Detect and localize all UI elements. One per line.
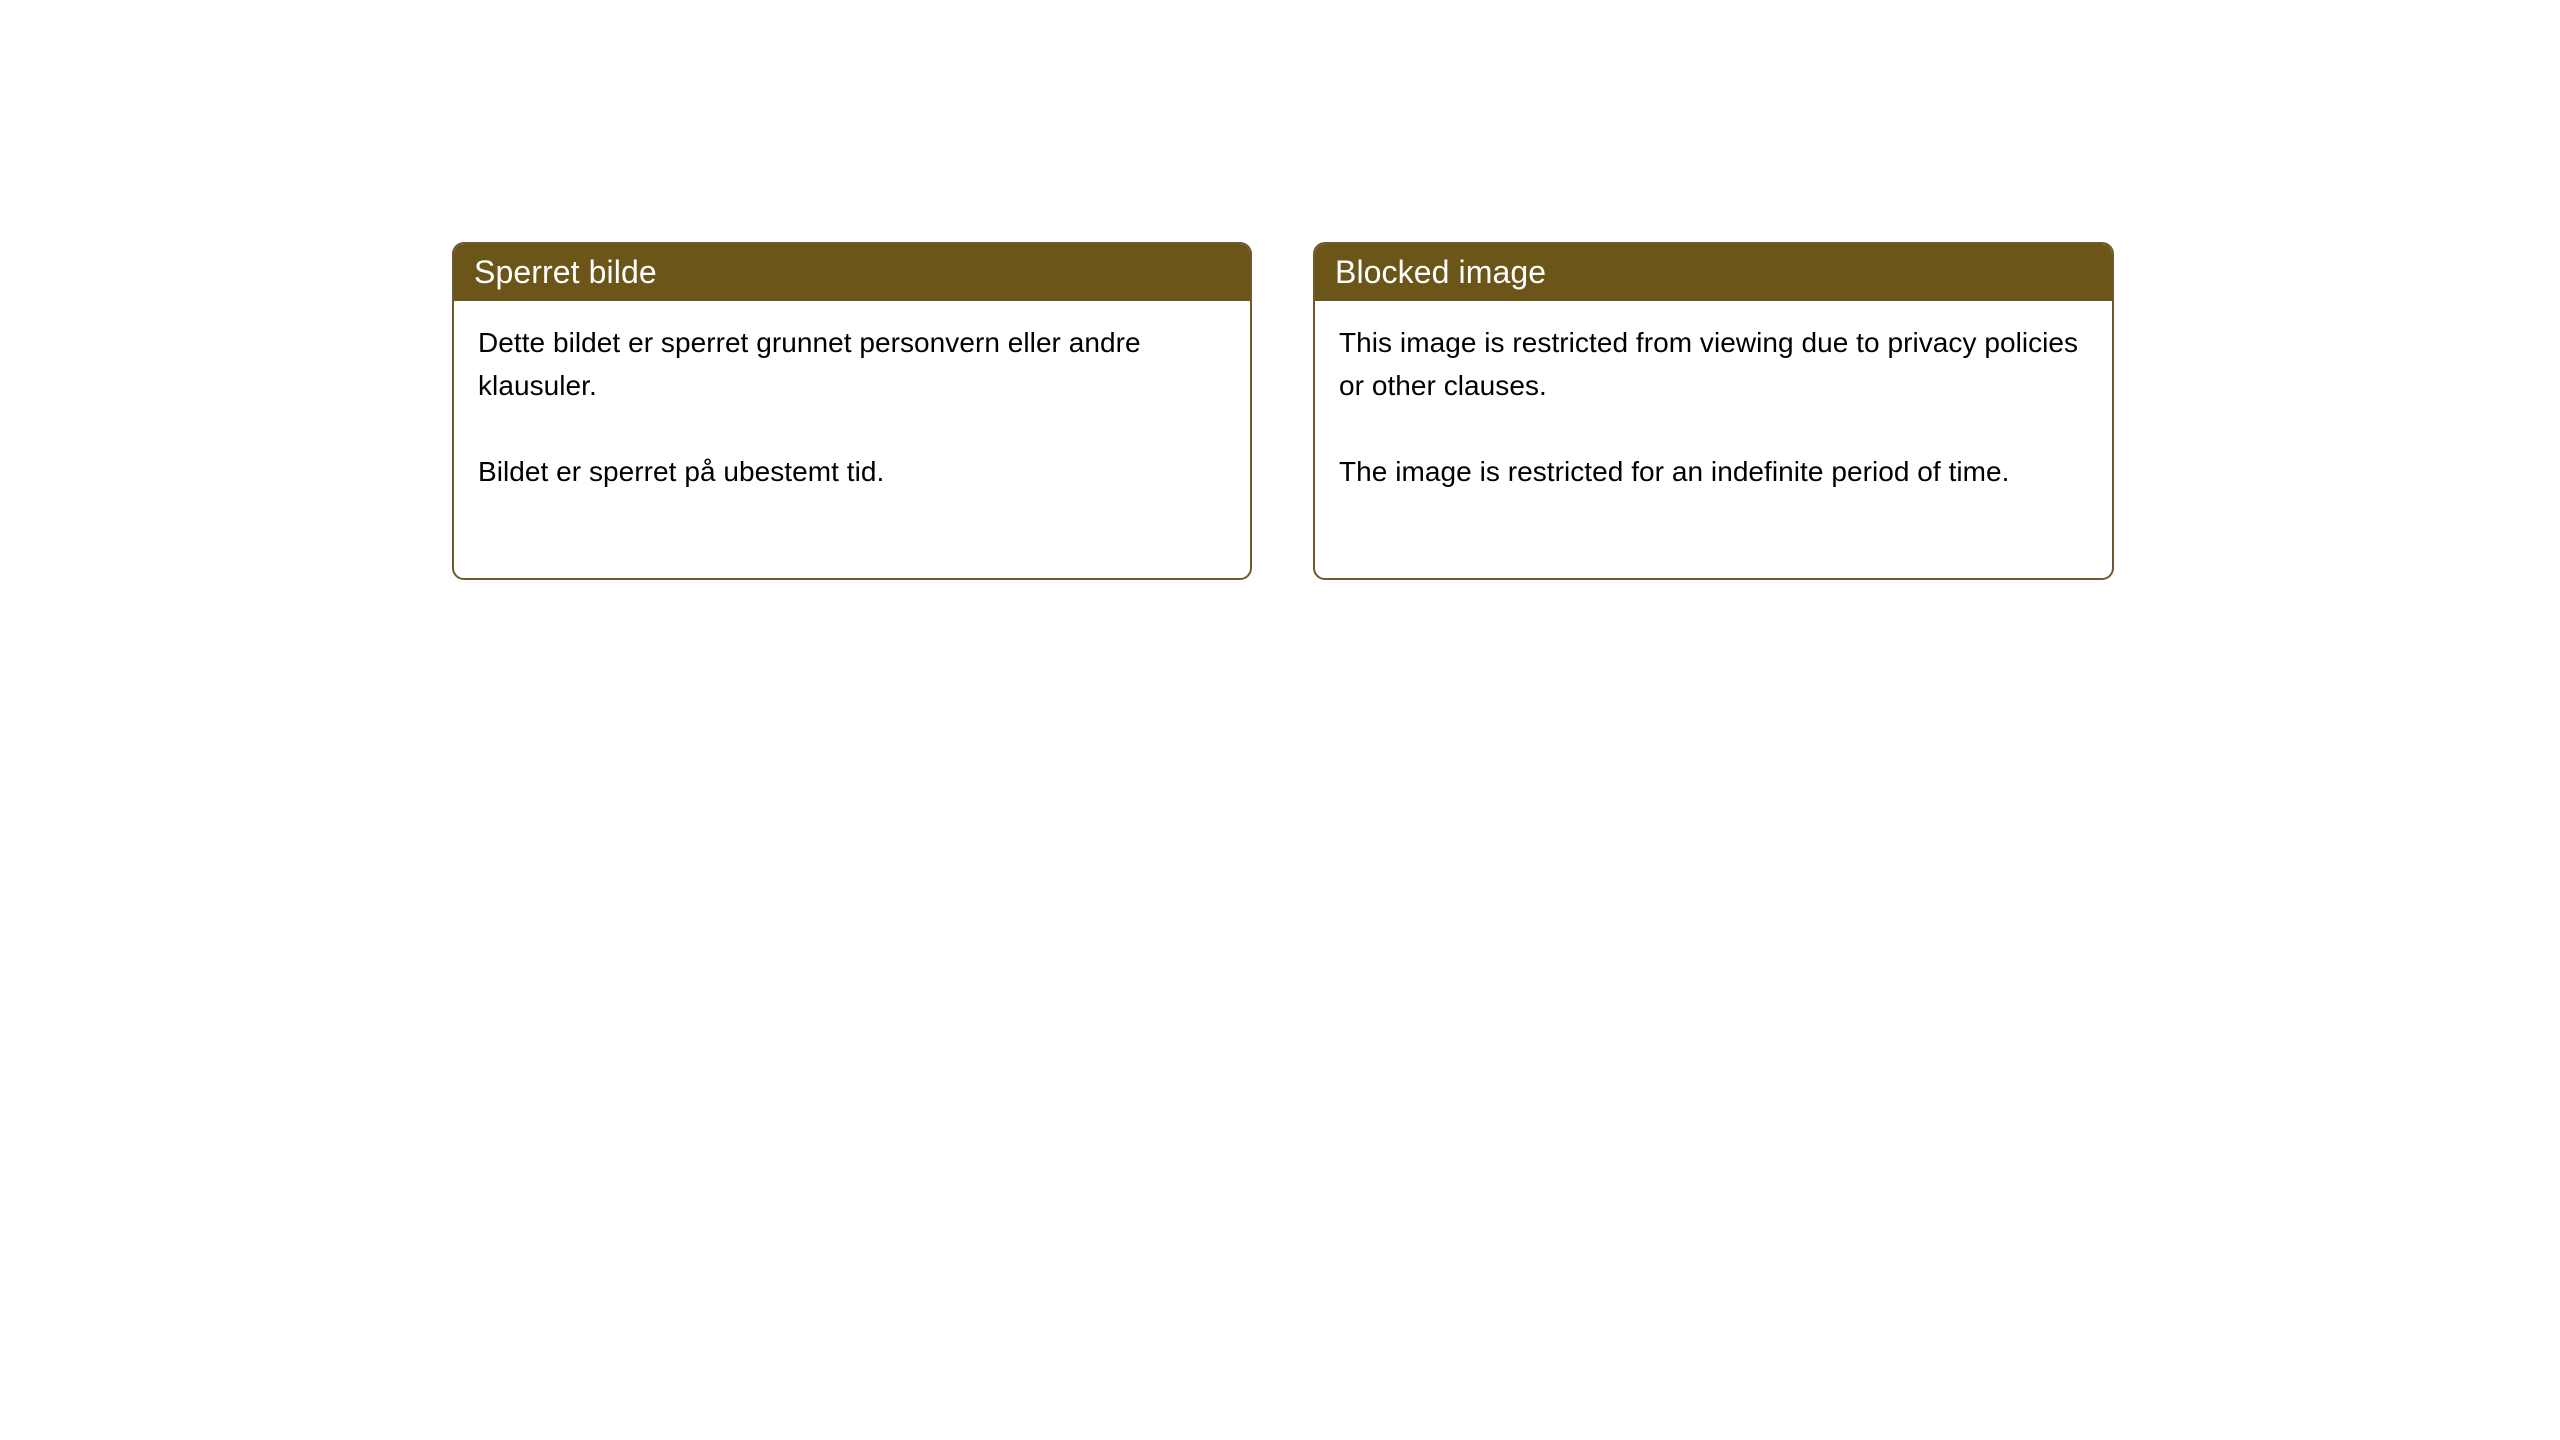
paragraph-spacer-no — [478, 407, 1226, 450]
card-title-en: Blocked image — [1335, 256, 1546, 288]
card-title-no: Sperret bilde — [474, 256, 657, 288]
card-paragraph-en-1: This image is restricted from viewing du… — [1339, 321, 2088, 407]
card-header-no: Sperret bilde — [452, 242, 1252, 301]
blocked-image-notice-card-no: Sperret bilde Dette bildet er sperret gr… — [452, 242, 1252, 580]
blocked-image-notice-card-en: Blocked image This image is restricted f… — [1313, 242, 2114, 580]
card-paragraph-no-1: Dette bildet er sperret grunnet personve… — [478, 321, 1226, 407]
card-body-en: This image is restricted from viewing du… — [1315, 301, 2112, 578]
card-body-no: Dette bildet er sperret grunnet personve… — [454, 301, 1250, 578]
card-paragraph-no-2: Bildet er sperret på ubestemt tid. — [478, 450, 1226, 493]
page-root: Sperret bilde Dette bildet er sperret gr… — [0, 0, 2560, 1440]
paragraph-spacer-en — [1339, 407, 2088, 450]
card-paragraph-en-2: The image is restricted for an indefinit… — [1339, 450, 2088, 493]
card-header-en: Blocked image — [1313, 242, 2114, 301]
